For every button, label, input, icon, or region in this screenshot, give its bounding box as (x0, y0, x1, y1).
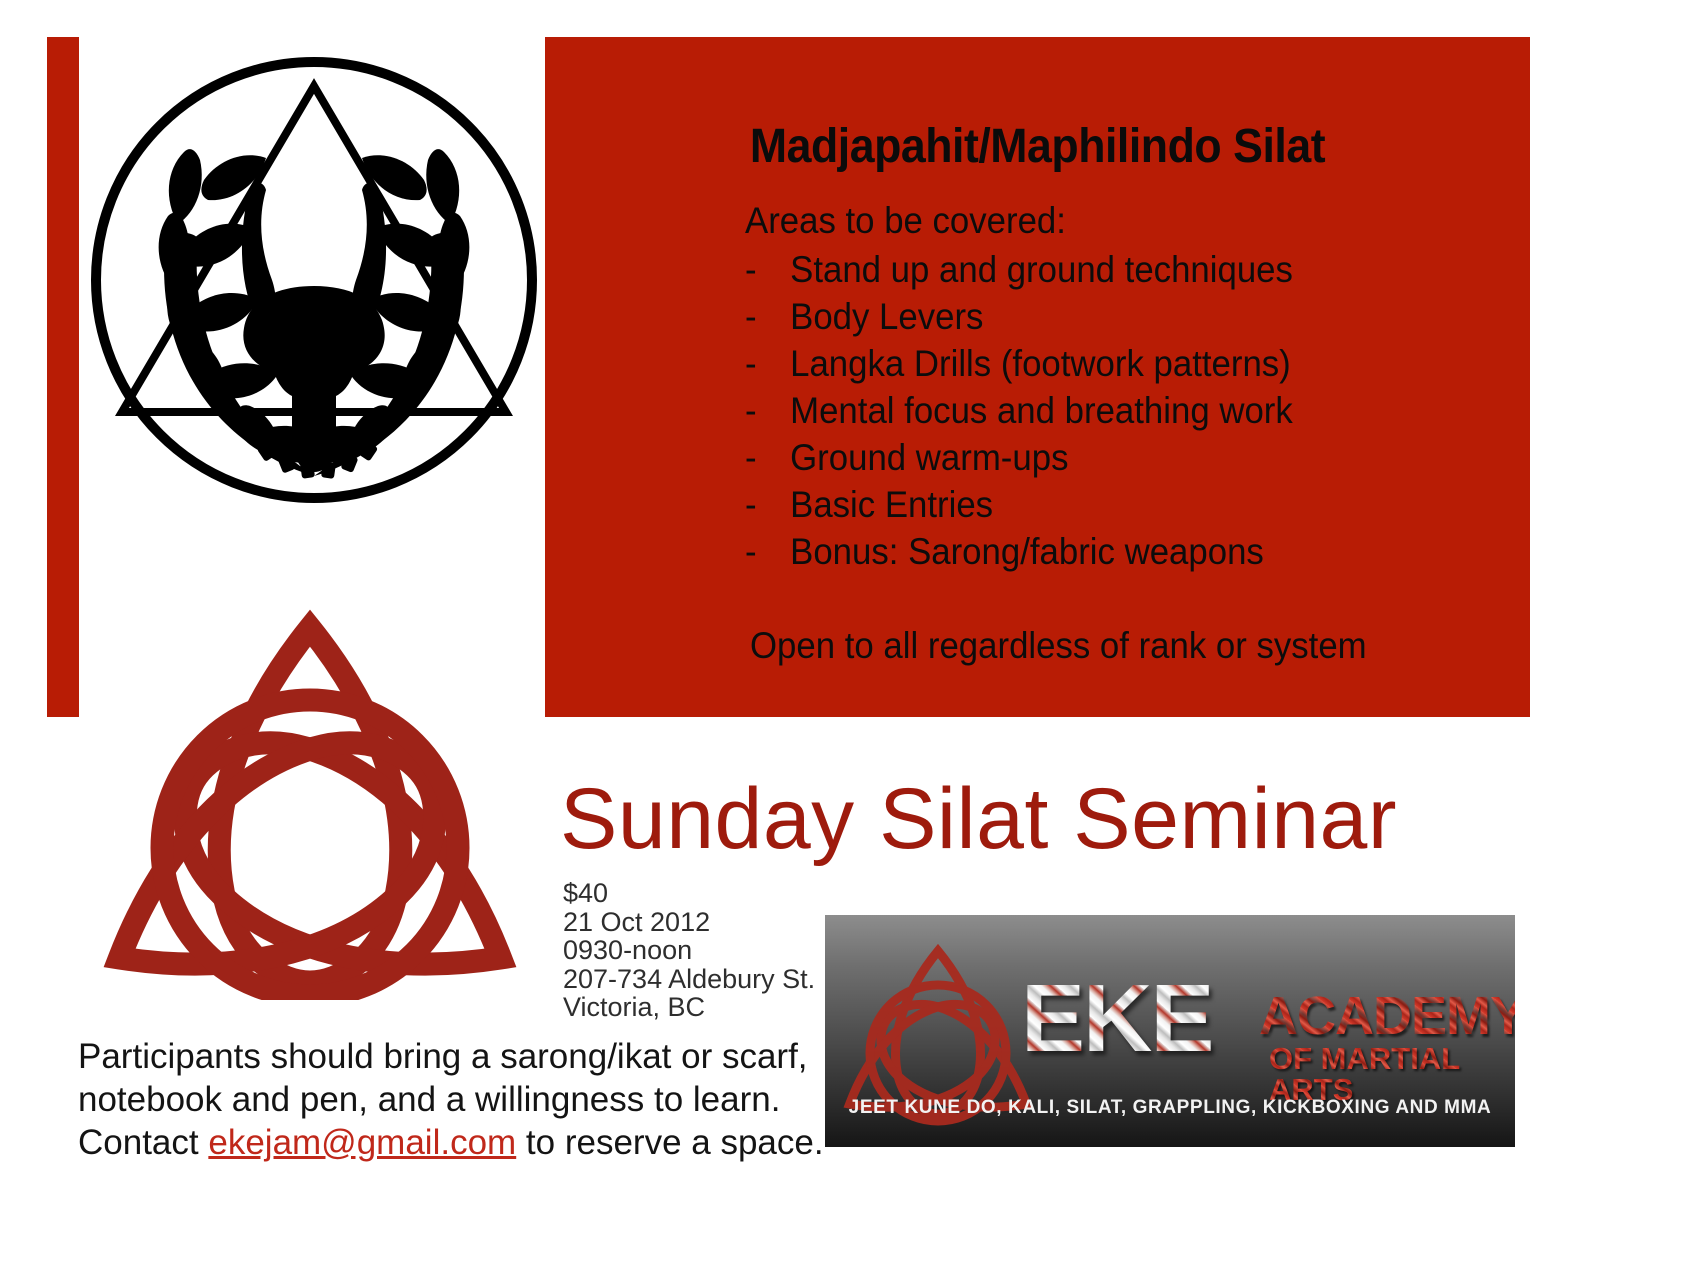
eke-subtitle-text: OF MARTIAL ARTS (1269, 1043, 1515, 1105)
bullet-marker: - (745, 528, 790, 575)
list-item: -Ground warm-ups (745, 434, 1472, 481)
list-item-label: Bonus: Sarong/fabric weapons (790, 528, 1264, 575)
participant-note: Participants should bring a sarong/ikat … (78, 1035, 848, 1164)
participant-note-line-3: Contact ekejam@gmail.com to reserve a sp… (78, 1121, 848, 1164)
bullet-marker: - (745, 246, 790, 293)
list-item: -Mental focus and breathing work (745, 387, 1472, 434)
detail-price: $40 (563, 879, 815, 908)
list-item-label: Body Levers (790, 293, 983, 340)
triquetra-knot-icon (95, 590, 525, 1000)
areas-lead-text: Areas to be covered: (745, 197, 1472, 244)
detail-address: 207-734 Aldebury St. (563, 965, 815, 994)
list-item-label: Ground warm-ups (790, 434, 1068, 481)
bullet-marker: - (745, 340, 790, 387)
detail-city: Victoria, BC (563, 993, 815, 1022)
list-item: -Body Levers (745, 293, 1472, 340)
content-panel: Madjapahit/Maphilindo Silat Areas to be … (545, 37, 1530, 717)
detail-date: 21 Oct 2012 (563, 908, 815, 937)
left-accent-bar (47, 37, 79, 717)
list-item-label: Basic Entries (790, 481, 993, 528)
list-item-label: Mental focus and breathing work (790, 387, 1293, 434)
bullet-marker: - (745, 387, 790, 434)
areas-bullet-list: -Stand up and ground techniques -Body Le… (745, 246, 1472, 575)
eke-brand-text: EKE (1021, 971, 1212, 1067)
detail-time: 0930-noon (563, 936, 815, 965)
bull-skull-crest-icon (88, 40, 540, 520)
page-title: Sunday Silat Seminar (560, 773, 1397, 865)
participant-note-line-1: Participants should bring a sarong/ikat … (78, 1035, 848, 1078)
bullet-marker: - (745, 293, 790, 340)
open-to-all-note: Open to all regardless of rank or system (750, 625, 1367, 667)
list-item: -Langka Drills (footwork patterns) (745, 340, 1472, 387)
list-item: -Stand up and ground techniques (745, 246, 1472, 293)
panel-title: Madjapahit/Maphilindo Silat (579, 119, 1495, 174)
email-link[interactable]: ekejam@gmail.com (208, 1123, 516, 1162)
eke-academy-text: ACADEMY (1259, 989, 1515, 1043)
list-item: -Bonus: Sarong/fabric weapons (745, 528, 1472, 575)
eke-academy-logo: EKE ACADEMY OF MARTIAL ARTS Jeet Kune Do… (825, 915, 1515, 1147)
participant-note-line-2: notebook and pen, and a willingness to l… (78, 1078, 848, 1121)
contact-prefix: Contact (78, 1123, 208, 1162)
list-item: -Basic Entries (745, 481, 1472, 528)
panel-body: Areas to be covered: -Stand up and groun… (745, 197, 1472, 575)
eke-tagline-text: Jeet Kune Do, Kali, Silat, Grappling, Ki… (825, 1097, 1515, 1119)
bullet-marker: - (745, 481, 790, 528)
bullet-marker: - (745, 434, 790, 481)
list-item-label: Stand up and ground techniques (790, 246, 1293, 293)
flyer-page: Madjapahit/Maphilindo Silat Areas to be … (0, 0, 1687, 1265)
contact-suffix: to reserve a space. (516, 1123, 823, 1162)
event-details: $40 21 Oct 2012 0930-noon 207-734 Aldebu… (563, 879, 815, 1022)
list-item-label: Langka Drills (footwork patterns) (790, 340, 1291, 387)
